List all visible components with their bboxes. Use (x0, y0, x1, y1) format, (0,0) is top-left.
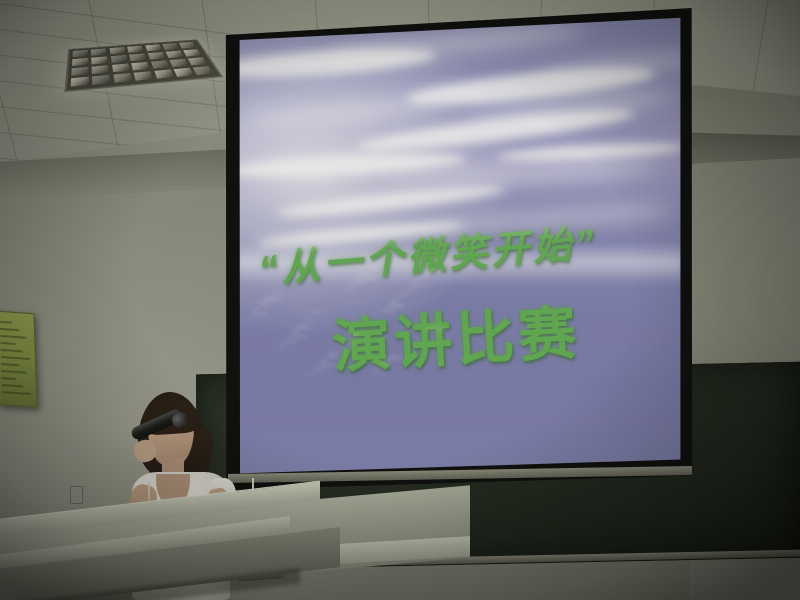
water-glint (243, 318, 258, 320)
slide-cloud (246, 93, 447, 132)
louver-cell (109, 47, 125, 54)
water-glint (342, 339, 351, 341)
water-glint (248, 313, 269, 315)
water-glint (290, 331, 299, 333)
wall-outlet (70, 486, 83, 504)
water-glint (354, 277, 378, 279)
louver-cell (112, 64, 130, 73)
water-glint (359, 272, 368, 274)
water-glint (275, 346, 287, 348)
water-glint (381, 310, 396, 312)
louver-cell (183, 49, 201, 56)
water-glint (391, 300, 397, 302)
water-glint (273, 288, 282, 290)
water-glint (421, 270, 442, 272)
poster-text-line (2, 391, 30, 395)
water-glint (258, 303, 270, 305)
water-glint (268, 293, 292, 295)
louver-cell (71, 77, 89, 87)
water-glint (270, 351, 276, 353)
water-glint (416, 275, 431, 277)
poster-text-line (0, 321, 12, 324)
water-glint (386, 305, 407, 307)
louver-cell (92, 65, 109, 74)
water-glint (344, 287, 356, 289)
water-glint (300, 321, 321, 323)
water-glint (406, 285, 430, 287)
louver-cell (188, 57, 207, 65)
water-glint (285, 336, 309, 338)
water-glint (280, 341, 298, 343)
water-glint (327, 354, 339, 356)
louver-cell (72, 58, 89, 66)
water-glint (384, 357, 402, 359)
water-glint (401, 290, 419, 292)
louver-cell (151, 60, 170, 68)
poster-text-line (1, 349, 23, 353)
slide-title-line-2: 演讲比赛 (330, 286, 583, 385)
water-glint (337, 344, 361, 346)
projection-screen-surface: “从一个微笑开始” 演讲比赛 (236, 15, 684, 478)
louver-cell (193, 66, 214, 75)
poster-text-line (2, 384, 23, 387)
water-glint (295, 326, 310, 328)
poster-text-line (0, 328, 19, 331)
louver-cell (134, 71, 153, 80)
water-glint (423, 328, 447, 330)
poster-text-line (1, 370, 26, 374)
louver-cell (169, 59, 188, 67)
poster-text-line (0, 342, 15, 345)
poster-text-line (2, 377, 16, 380)
louver-cell (91, 48, 107, 55)
water-glint (349, 282, 367, 284)
poster-text-line (1, 363, 19, 366)
water-glint (322, 359, 328, 361)
water-glint (369, 372, 390, 374)
louver-cell (92, 75, 110, 85)
water-glint (396, 295, 408, 297)
water-glint (312, 369, 327, 371)
water-glint (379, 362, 391, 364)
poster-text-line (0, 335, 26, 339)
louver-cell (92, 56, 109, 64)
water-glint (263, 298, 281, 300)
louver-cell (166, 51, 184, 58)
slide-cloud (496, 140, 684, 164)
water-glint (364, 267, 379, 269)
louver-cell (179, 42, 196, 49)
water-glint (411, 280, 420, 282)
louver-cell (127, 46, 143, 53)
water-glint (307, 374, 316, 376)
louver-cell (145, 44, 162, 51)
water-glint (305, 316, 311, 318)
louver-cell (113, 73, 132, 83)
slide-cloud (276, 181, 506, 221)
louver-cell (71, 67, 88, 76)
water-glint (310, 311, 322, 313)
poster-text-line (1, 356, 30, 360)
louver-cell (131, 62, 149, 70)
wall-poster (0, 310, 38, 407)
louver-cell (111, 55, 128, 63)
louver-cell (129, 53, 146, 61)
photo-scene: “从一个微笑开始” 演讲比赛 A woman speaking into a h… (0, 0, 800, 600)
water-glint (332, 349, 350, 351)
horizon-glow (236, 243, 684, 285)
water-glint (347, 334, 362, 336)
water-glint (374, 367, 380, 369)
louver-cell (72, 50, 88, 57)
louver-cell (148, 52, 166, 60)
louver-cell (162, 43, 179, 50)
louver-cell (154, 70, 174, 79)
water-glint (317, 364, 338, 366)
slide-cloud (426, 202, 677, 235)
water-glint (253, 308, 259, 310)
louver-cell (174, 68, 194, 77)
